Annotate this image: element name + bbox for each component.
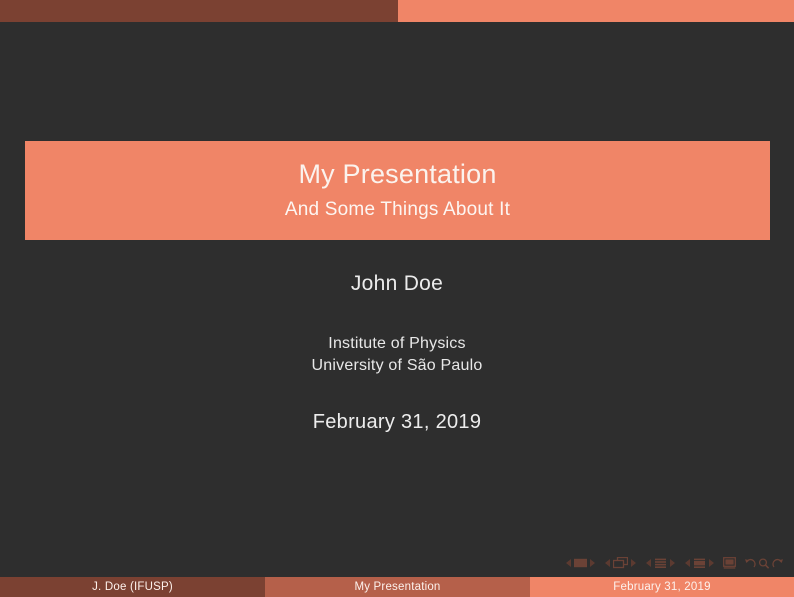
- slide-next-icon[interactable]: [589, 558, 596, 568]
- frame-icon[interactable]: [613, 557, 628, 569]
- frame-nav-group[interactable]: [604, 557, 637, 569]
- subsection-icon[interactable]: [654, 558, 667, 569]
- frame-next-icon[interactable]: [630, 558, 637, 568]
- frame-previous-icon[interactable]: [604, 558, 611, 568]
- title-meta: John Doe Institute of Physics University…: [0, 272, 794, 433]
- navigation-symbols[interactable]: [565, 555, 784, 571]
- headline-bar-left: [0, 0, 398, 22]
- title-block: My Presentation And Some Things About It: [25, 141, 770, 240]
- search-icon[interactable]: [758, 558, 770, 569]
- subsection-previous-icon[interactable]: [645, 558, 652, 568]
- slide-nav-group[interactable]: [565, 558, 596, 568]
- subsection-nav-group[interactable]: [645, 558, 676, 569]
- page-subtitle: And Some Things About It: [285, 200, 510, 221]
- section-previous-icon[interactable]: [684, 558, 691, 568]
- institute-line-1: Institute of Physics: [0, 333, 794, 355]
- presentation-date: February 31, 2019: [0, 411, 794, 433]
- footline-bar: J. Doe (IFUSP) My Presentation February …: [0, 577, 794, 597]
- footline-title: My Presentation: [265, 577, 530, 597]
- section-next-icon[interactable]: [708, 558, 715, 568]
- document-nav-group[interactable]: [723, 557, 736, 569]
- author-name: John Doe: [0, 272, 794, 295]
- institute-line-2: University of São Paulo: [0, 355, 794, 377]
- page-title: My Presentation: [298, 160, 496, 190]
- document-icon[interactable]: [723, 557, 736, 569]
- footline-author: J. Doe (IFUSP): [0, 577, 265, 597]
- section-icon[interactable]: [693, 558, 706, 569]
- slide-previous-icon[interactable]: [565, 558, 572, 568]
- beamer-slide: My Presentation And Some Things About It…: [0, 0, 794, 597]
- headline-bar-right: [398, 0, 794, 22]
- footline-date: February 31, 2019: [530, 577, 794, 597]
- institute-block: Institute of Physics University of São P…: [0, 333, 794, 376]
- back-icon[interactable]: [744, 558, 756, 569]
- misc-nav-group[interactable]: [744, 558, 784, 569]
- slide-icon[interactable]: [574, 558, 587, 568]
- subsection-next-icon[interactable]: [669, 558, 676, 568]
- headline-bar: [0, 0, 794, 22]
- forward-icon[interactable]: [772, 558, 784, 569]
- section-nav-group[interactable]: [684, 558, 715, 569]
